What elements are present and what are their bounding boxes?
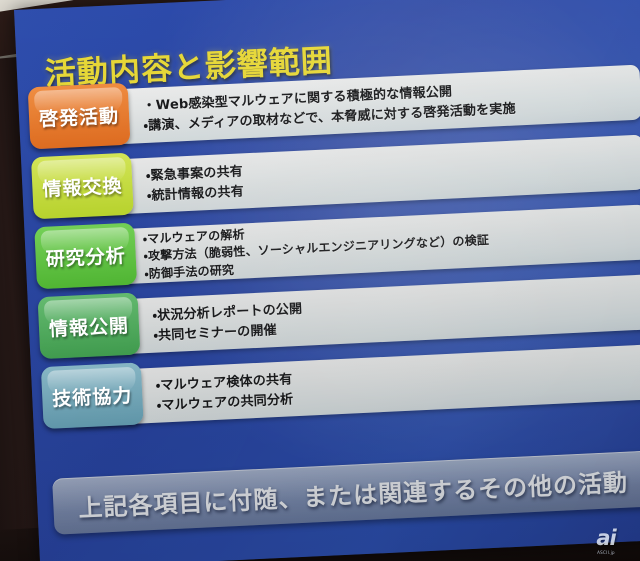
- activity-tag-label: 情報交換: [42, 171, 123, 202]
- activity-tag-label: 研究分析: [45, 241, 126, 272]
- photograph-of-projection-screen: 活動内容と影響範囲 啓発活動 ・Web感染型マルウェアに関する積極的な情報公開 …: [0, 0, 640, 561]
- activity-tag-label: 技術協力: [52, 380, 133, 411]
- watermark-subtext: ASCII.jp: [584, 550, 628, 555]
- activity-tag-enlightenment[interactable]: 啓発活動: [28, 83, 131, 150]
- activity-tag-label: 啓発活動: [38, 101, 119, 132]
- watermark-mark: ai: [596, 526, 615, 550]
- activity-tag-technical-cooperation[interactable]: 技術協力: [41, 362, 144, 429]
- activity-tag-label: 情報公開: [48, 310, 129, 341]
- activity-tag-info-disclosure[interactable]: 情報公開: [38, 292, 141, 359]
- watermark-logo: ai ASCII.jp: [584, 523, 628, 553]
- footer-summary-text: 上記各項目に付随、または関連するその他の活動: [78, 462, 629, 523]
- activity-tag-research-analysis[interactable]: 研究分析: [34, 223, 137, 290]
- slide-screen: 活動内容と影響範囲 啓発活動 ・Web感染型マルウェアに関する積極的な情報公開 …: [14, 0, 640, 561]
- footer-summary-bar: 上記各項目に付随、または関連するその他の活動: [52, 450, 640, 534]
- activity-rows-list: 啓発活動 ・Web感染型マルウェアに関する積極的な情報公開 ・講演、メディアの取…: [18, 57, 640, 437]
- activity-tag-info-exchange[interactable]: 情報交換: [31, 153, 134, 220]
